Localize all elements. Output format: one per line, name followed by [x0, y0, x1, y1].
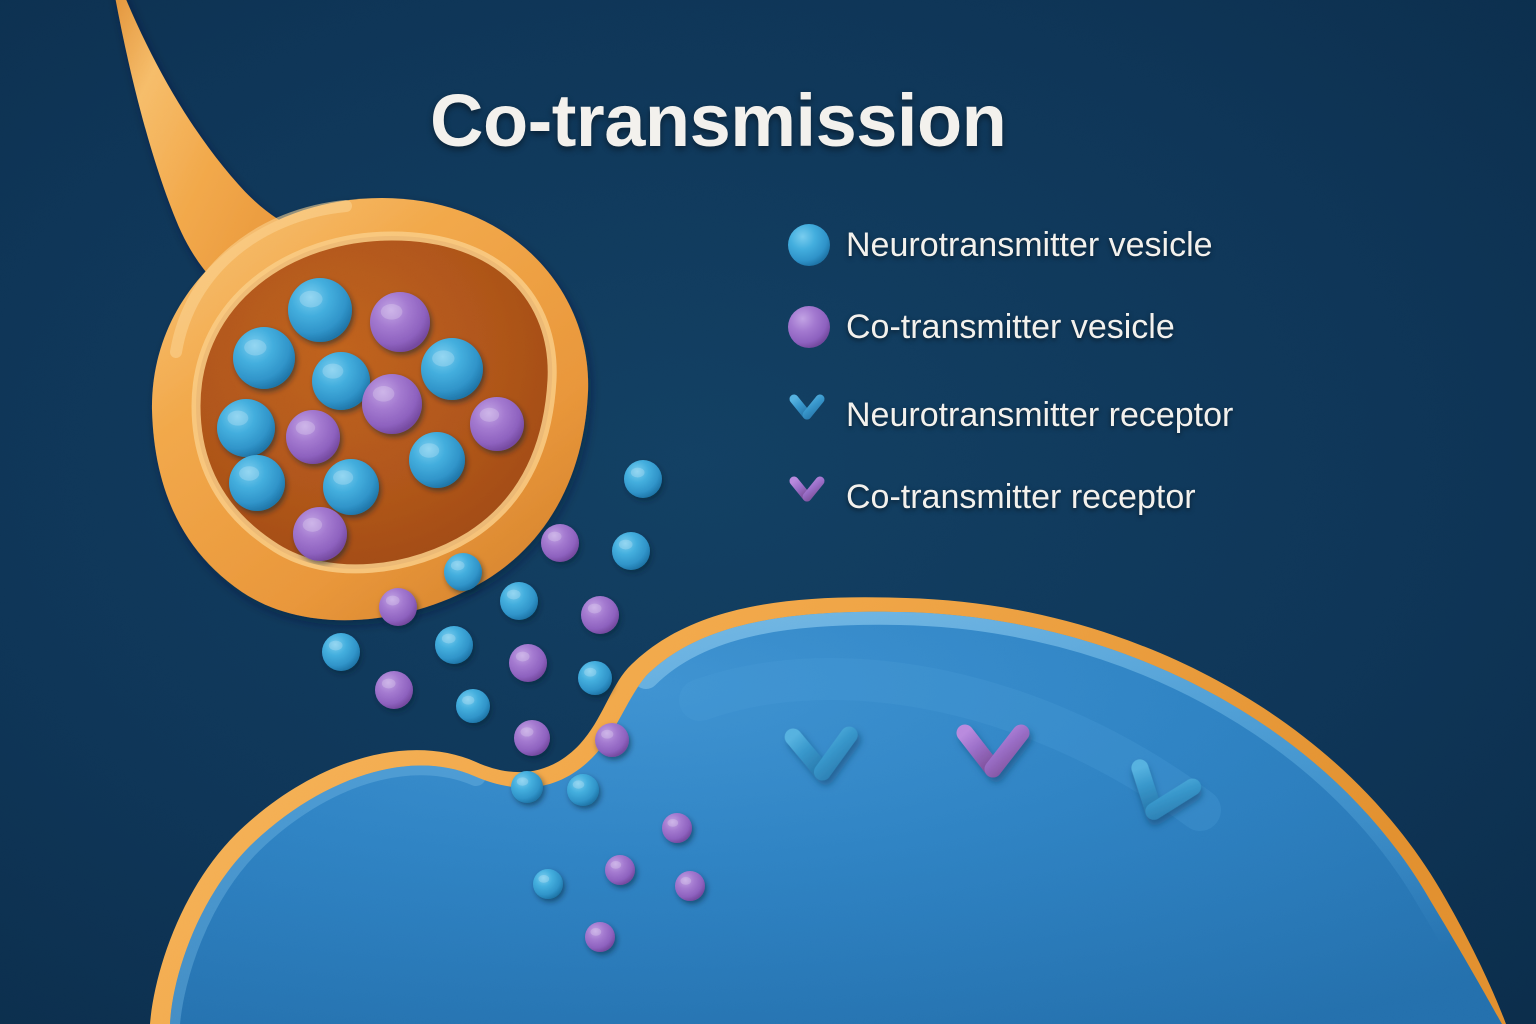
page-title: Co-transmission [430, 78, 1006, 163]
legend-item-cotransmitter-vesicle: Co-transmitter vesicle [786, 304, 1426, 350]
legend-item-neurotransmitter-receptor: Neurotransmitter receptor [786, 392, 1426, 438]
cotransmitter-receptor-icon [786, 473, 846, 521]
diagram-canvas: Co-transmission Neurotransmitter vesicle [0, 0, 1536, 1024]
legend-label: Neurotransmitter vesicle [846, 228, 1213, 262]
legend-item-neurotransmitter-vesicle: Neurotransmitter vesicle [786, 222, 1426, 268]
legend-label: Co-transmitter vesicle [846, 310, 1175, 344]
legend-label: Neurotransmitter receptor [846, 398, 1233, 432]
cotransmitter-vesicle-icon [786, 304, 846, 350]
legend-item-cotransmitter-receptor: Co-transmitter receptor [786, 474, 1426, 520]
neurotransmitter-vesicle-icon [786, 222, 846, 268]
legend-label: Co-transmitter receptor [846, 480, 1196, 514]
legend: Neurotransmitter vesicle Co-transmitter … [786, 222, 1426, 556]
neurotransmitter-receptor-icon [786, 391, 846, 439]
